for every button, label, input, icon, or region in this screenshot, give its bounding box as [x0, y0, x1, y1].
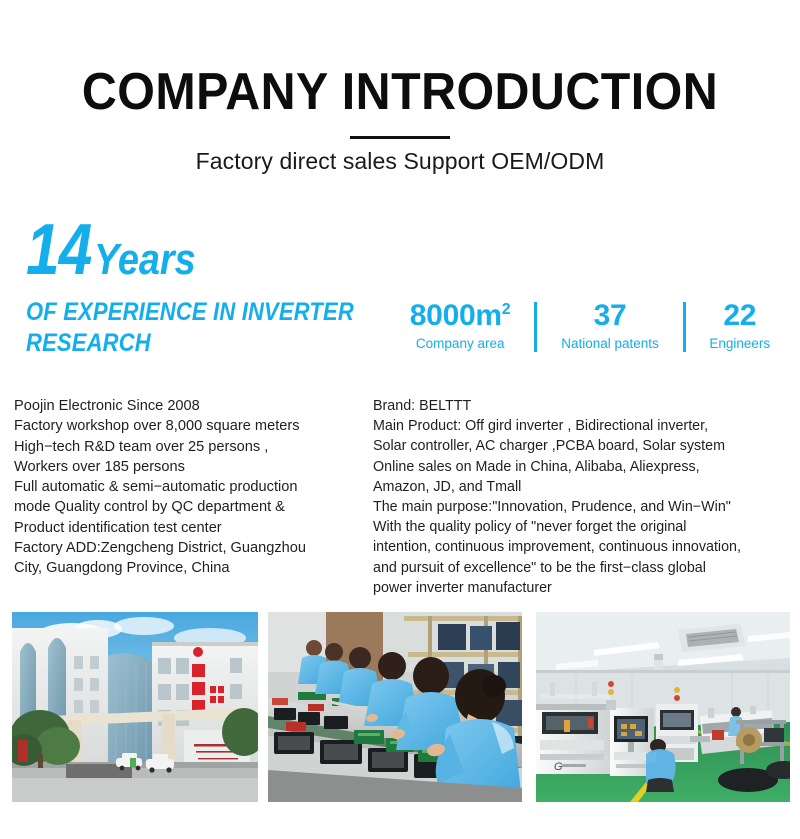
years-headline: 14Years: [26, 216, 366, 285]
fact-line: Full automatic & semi−automatic producti…: [14, 477, 359, 497]
stat-divider-2: [683, 302, 686, 352]
factory-building-photo: [12, 612, 258, 802]
detail-line: Main Product: Off gird inverter , Bidire…: [373, 416, 788, 436]
detail-line: Online sales on Made in China, Alibaba, …: [373, 457, 788, 477]
stat-company-area-value: 8000m2: [390, 300, 530, 332]
detail-line: Solar controller, AC charger ,PCBA board…: [373, 436, 788, 456]
detail-line: intention, continuous improvement, conti…: [373, 537, 788, 557]
fact-line: Factory ADD:Zengcheng District, Guangzho…: [14, 538, 359, 558]
company-facts-column: Poojin Electronic Since 2008 Factory wor…: [14, 396, 359, 579]
assembly-line-illustration: [268, 612, 522, 802]
stat-company-area-number: 8000m: [410, 299, 502, 332]
years-number: 14: [26, 216, 92, 285]
stat-national-patents-value: 37: [541, 300, 678, 332]
detail-line: and pursuit of excellence" to be the fir…: [373, 558, 788, 578]
detail-line: With the quality policy of "never forget…: [373, 517, 788, 537]
stat-engineers-number: 22: [723, 299, 756, 332]
page-title: COMPANY INTRODUCTION: [28, 0, 772, 118]
stat-national-patents: 37 National patents: [541, 300, 678, 351]
years-unit-label: Years: [94, 239, 196, 281]
years-experience-block: 14Years OF EXPERIENCE IN INVERTER RESEAR…: [26, 216, 366, 358]
fact-line: City, Guangdong Province, China: [14, 558, 359, 578]
company-stats-row: 8000m2 Company area 37 National patents …: [390, 300, 790, 352]
detail-line: Brand: BELTTT: [373, 396, 788, 416]
page-subtitle: Factory direct sales Support OEM/ODM: [0, 148, 800, 175]
years-subtitle: OF EXPERIENCE IN INVERTER RESEARCH: [26, 297, 360, 358]
stat-national-patents-number: 37: [594, 299, 627, 332]
fact-line: Factory workshop over 8,000 square meter…: [14, 416, 359, 436]
stat-engineers-label: Engineers: [690, 336, 790, 351]
fact-line: Poojin Electronic Since 2008: [14, 396, 359, 416]
stat-engineers: 22 Engineers: [690, 300, 790, 351]
stat-company-area-label: Company area: [390, 336, 530, 351]
detail-line: The main purpose:"Innovation, Prudence, …: [373, 497, 788, 517]
years-subtitle-line-1: OF EXPERIENCE IN INVERTER: [26, 297, 360, 328]
stat-national-patents-label: National patents: [541, 336, 678, 351]
detail-line: Amazon, JD, and Tmall: [373, 477, 788, 497]
fact-line: Workers over 185 persons: [14, 457, 359, 477]
fact-line: Product identification test center: [14, 518, 359, 538]
title-divider-rule: [350, 136, 450, 139]
photo-gallery-strip: G: [0, 612, 800, 802]
smt-workshop-illustration: G: [536, 612, 790, 802]
stat-engineers-value: 22: [690, 300, 790, 332]
detail-line: power inverter manufacturer: [373, 578, 788, 598]
smt-workshop-photo: G: [536, 612, 790, 802]
stat-company-area: 8000m2 Company area: [390, 300, 530, 351]
years-subtitle-line-2: RESEARCH: [26, 328, 360, 359]
brand-details-column: Brand: BELTTT Main Product: Off gird inv…: [373, 396, 788, 598]
stat-company-area-superscript: 2: [502, 301, 511, 318]
assembly-line-photo: [268, 612, 522, 802]
page-header: COMPANY INTRODUCTION Factory direct sale…: [0, 0, 800, 175]
stat-divider-1: [534, 302, 537, 352]
fact-line: High−tech R&D team over 25 persons ,: [14, 437, 359, 457]
fact-line: mode Quality control by QC department &: [14, 497, 359, 517]
factory-building-illustration: [12, 612, 258, 802]
